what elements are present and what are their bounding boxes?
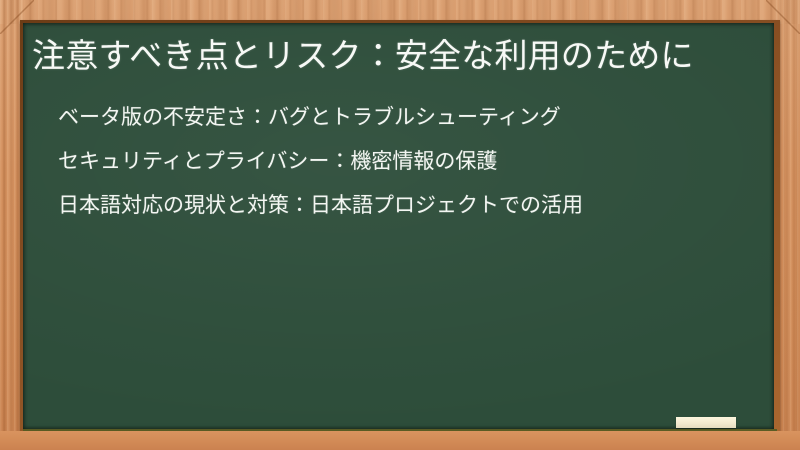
page-title: 注意すべき点とリスク：安全な利用のために	[32, 32, 758, 79]
list-item: セキュリティとプライバシー：機密情報の保護	[58, 146, 758, 177]
bullet-list: ベータ版の不安定さ：バグとトラブルシューティング セキュリティとプライバシー：機…	[32, 102, 758, 221]
list-item: 日本語対応の現状と対策：日本語プロジェクトでの活用	[58, 190, 758, 221]
list-item: ベータ版の不安定さ：バグとトラブルシューティング	[58, 102, 758, 133]
slide-content: 注意すべき点とリスク：安全な利用のために ベータ版の不安定さ：バグとトラブルシュ…	[23, 23, 774, 429]
chalk-ledge	[0, 431, 800, 450]
chalkboard-slide: 注意すべき点とリスク：安全な利用のために ベータ版の不安定さ：バグとトラブルシュ…	[0, 0, 800, 450]
chalk-stick	[676, 417, 736, 428]
